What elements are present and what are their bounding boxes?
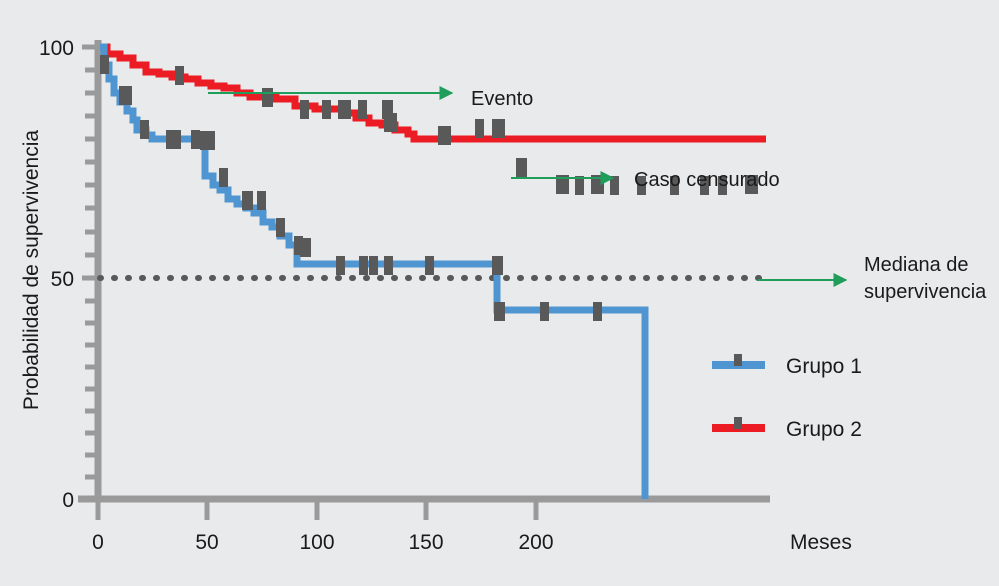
- x-tick-label-150: 150: [408, 531, 443, 554]
- x-tick-label-50: 50: [195, 531, 218, 554]
- y-tick-label-100: 100: [39, 37, 74, 60]
- y-tick-label-0: 0: [62, 489, 74, 512]
- legend-censor-tick-grupo-2: [734, 417, 742, 429]
- x-tick-label-0: 0: [92, 531, 104, 554]
- x-axis-title: Meses: [790, 531, 852, 554]
- evento-label: Evento: [471, 88, 533, 110]
- chart-canvas: 100 50 0 0 50 100 150 200 Meses Probabil…: [0, 0, 999, 586]
- x-tick-label-200: 200: [518, 531, 553, 554]
- survival-plot-svg: 100 50 0 0 50 100 150 200 Meses Probabil…: [0, 0, 999, 586]
- caso-censurado-label: Caso censurado: [634, 169, 780, 191]
- legend-label-grupo-1: Grupo 1: [786, 355, 862, 378]
- mediana-label-line1: Mediana de: [864, 254, 969, 276]
- mediana-label-line2: supervivencia: [864, 281, 987, 303]
- legend-censor-tick-grupo-1: [734, 354, 742, 366]
- y-tick-label-50: 50: [51, 268, 74, 291]
- y-axis-title: Probabilidad de supervivencia: [20, 130, 43, 410]
- x-tick-label-100: 100: [299, 531, 334, 554]
- legend-label-grupo-2: Grupo 2: [786, 418, 862, 441]
